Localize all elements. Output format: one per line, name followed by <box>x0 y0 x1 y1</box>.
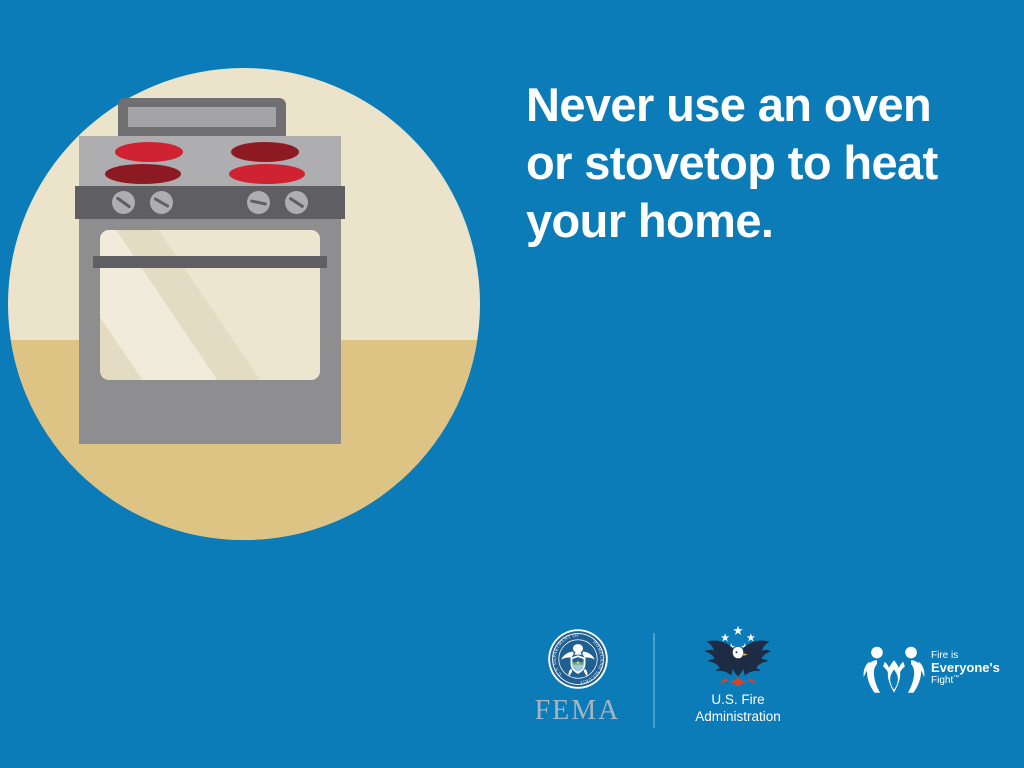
burner-top-left <box>115 142 183 162</box>
oven-window <box>100 230 320 380</box>
usfa-eagle-icon <box>692 625 784 687</box>
fema-wordmark: FEMA <box>520 695 635 727</box>
fief-line-3: Fight™ <box>931 675 1000 686</box>
fire-is-everyones-fight-icon <box>863 643 925 693</box>
stove-oven-body <box>79 219 341 444</box>
stove-knob-4 <box>285 191 308 214</box>
usfa-wordmark-line-2: Administration <box>673 709 803 726</box>
fief-line-2: Everyone's <box>931 661 1000 676</box>
poster-canvas: Never use an oven or stovetop to heat yo… <box>0 0 1024 768</box>
stove-cooktop <box>79 136 341 188</box>
trademark-symbol: ™ <box>953 675 959 681</box>
oven-door-handle <box>93 256 327 268</box>
headline-line-2: or stovetop to heat <box>526 134 986 192</box>
fire-is-everyones-fight-logo: Fire is Everyone's Fight™ <box>863 643 1013 693</box>
page-title: Never use an oven or stovetop to heat yo… <box>526 76 986 249</box>
stove-graphic <box>75 98 345 444</box>
usfa-wordmark: U.S. Fire Administration <box>673 692 803 726</box>
knob-indicator-icon <box>116 196 132 208</box>
stove-illustration <box>0 0 500 600</box>
fief-line-3-text: Fight <box>931 675 953 686</box>
burner-bottom-right <box>229 164 305 184</box>
stove-backsplash <box>118 98 286 138</box>
burner-bottom-left <box>105 164 181 184</box>
fire-is-everyones-fight-wordmark: Fire is Everyone's Fight™ <box>931 650 1000 687</box>
knob-indicator-icon <box>153 197 169 208</box>
burner-top-right <box>231 142 299 162</box>
headline-line-1: Never use an oven <box>526 76 986 134</box>
knob-indicator-icon <box>250 199 267 205</box>
stove-knob-3 <box>247 191 270 214</box>
stove-control-panel <box>75 186 345 219</box>
fema-logo: U.S. DEPARTMENT OF HOMELAND SECURITY FEM… <box>520 625 635 727</box>
logo-bar: U.S. DEPARTMENT OF HOMELAND SECURITY FEM… <box>505 625 1005 740</box>
usfa-wordmark-line-1: U.S. Fire <box>673 692 803 709</box>
stove-knob-2 <box>150 191 173 214</box>
headline-line-3: your home. <box>526 192 986 250</box>
dhs-seal-icon: U.S. DEPARTMENT OF HOMELAND SECURITY <box>547 628 609 690</box>
knob-indicator-icon <box>289 197 305 209</box>
stove-knob-1 <box>112 191 135 214</box>
logo-divider <box>653 633 655 728</box>
usfa-logo: U.S. Fire Administration <box>673 625 803 726</box>
stove-backsplash-panel <box>128 107 276 127</box>
